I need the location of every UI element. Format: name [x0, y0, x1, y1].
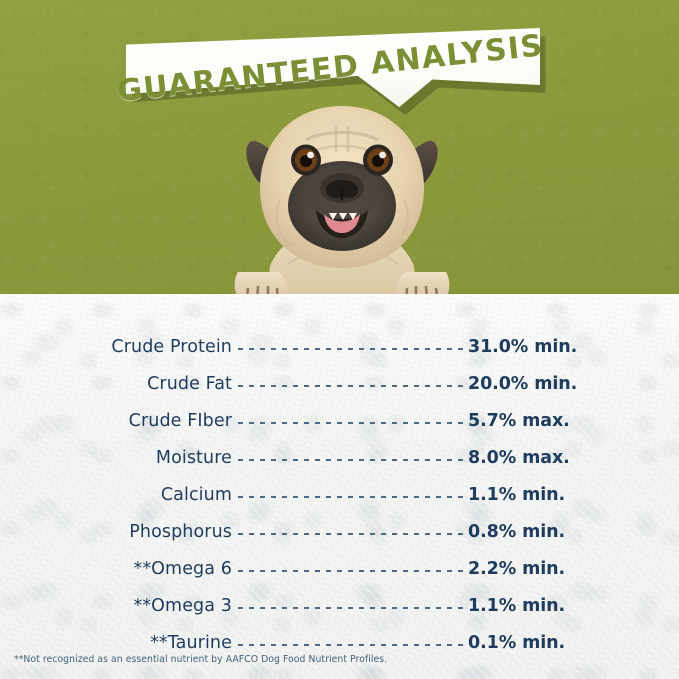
- leader-dots: [238, 496, 464, 498]
- nutrient-value: 0.8% min.: [468, 522, 679, 542]
- table-row: Moisture 8.0% max.: [0, 439, 679, 476]
- pug-dog-icon: [232, 96, 452, 308]
- leader-dots: [238, 644, 464, 646]
- nutrient-label: **Taurine: [0, 633, 232, 653]
- nutrient-value: 5.7% max.: [468, 411, 679, 431]
- leader-dots: [238, 570, 464, 572]
- nutrient-label: **Omega 6: [0, 559, 232, 579]
- nutrient-label: Crude Fat: [0, 374, 232, 394]
- leader-dots: [238, 385, 464, 387]
- paper-top-edge: [0, 294, 679, 298]
- nutrient-label: Crude FIber: [0, 411, 232, 431]
- leader-dots: [238, 533, 464, 535]
- guaranteed-analysis-panel: GUARANTEED ANALYSIS: [0, 0, 679, 679]
- nutrient-value: 8.0% max.: [468, 448, 679, 468]
- nutrient-value: 31.0% min.: [468, 337, 679, 357]
- nutrient-label: **Omega 3: [0, 596, 232, 616]
- nutrient-value: 2.2% min.: [468, 559, 679, 579]
- table-row: Crude FIber 5.7% max.: [0, 402, 679, 439]
- leader-dots: [238, 459, 464, 461]
- nutrient-value: 1.1% min.: [468, 485, 679, 505]
- guaranteed-analysis-table: Crude Protein 31.0% min. Crude Fat 20.0%…: [0, 328, 679, 661]
- table-row: Phosphorus 0.8% min.: [0, 513, 679, 550]
- leader-dots: [238, 348, 464, 350]
- nutrient-value: 1.1% min.: [468, 596, 679, 616]
- table-row: Crude Fat 20.0% min.: [0, 365, 679, 402]
- nutrient-value: 20.0% min.: [468, 374, 679, 394]
- leader-dots: [238, 422, 464, 424]
- nutrient-label: Moisture: [0, 448, 232, 468]
- nutrient-label: Phosphorus: [0, 522, 232, 542]
- table-row: **Omega 3 1.1% min.: [0, 587, 679, 624]
- table-row: Crude Protein 31.0% min.: [0, 328, 679, 365]
- nutrient-label: Calcium: [0, 485, 232, 505]
- table-row: **Omega 6 2.2% min.: [0, 550, 679, 587]
- table-row: Calcium 1.1% min.: [0, 476, 679, 513]
- footnote-text: **Not recognized as an essential nutrien…: [14, 654, 387, 665]
- leader-dots: [238, 607, 464, 609]
- nutrient-value: 0.1% min.: [468, 633, 679, 653]
- nutrient-label: Crude Protein: [0, 337, 232, 357]
